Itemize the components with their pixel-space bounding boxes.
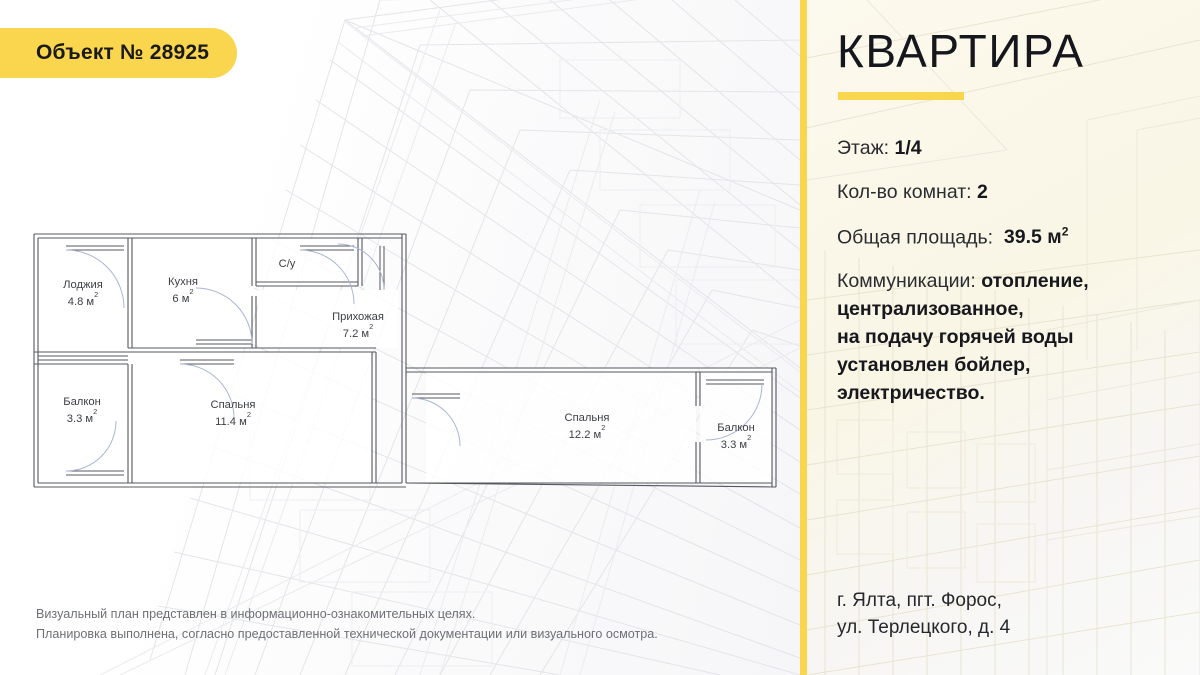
vertical-accent-divider — [800, 0, 807, 675]
spec-value-utilities-line-2: на подачу горячей воды — [837, 326, 1074, 348]
spec-value-total-area-number: 39.5 м — [1004, 226, 1062, 248]
address-block: г. Ялта, пгт. Форос, ул. Терлецкого, д. … — [837, 588, 1187, 642]
spec-value-rooms: 2 — [977, 181, 988, 203]
spec-value-floor: 1/4 — [894, 137, 921, 159]
room-label-bath: С/у — [279, 258, 296, 270]
page-title: КВАРТИРА — [837, 28, 1085, 74]
spec-row-rooms: Кол-во комнат: 2 — [837, 179, 1187, 205]
spec-value-total-area-sup: 2 — [1062, 225, 1069, 239]
plan-disclaimer: Визуальный план представлен в информацио… — [36, 605, 766, 644]
apartment-info-panel: КВАРТИРА Этаж: 1/4 Кол-во комнат: 2 Обща… — [807, 0, 1200, 675]
title-accent-bar — [838, 92, 964, 100]
address-line-2: ул. Терлецкого, д. 4 — [837, 615, 1187, 642]
spec-row-utilities: Коммуникации: отопление, централизованно… — [837, 268, 1187, 407]
spec-value-utilities-line-0: отопление, — [981, 270, 1088, 292]
apartment-info-content: КВАРТИРА Этаж: 1/4 Кол-во комнат: 2 Обща… — [837, 0, 1200, 675]
object-number-label: Объект № 28925 — [36, 41, 209, 65]
spec-label-floor: Этаж: — [837, 137, 889, 159]
floorplan-drawing: Лоджия 4.8 м2 Балкон 3.3 м2 Кухня 6 м2 С… — [28, 228, 788, 503]
spec-value-utilities-line-1: централизованное, — [837, 298, 1024, 320]
specification-list: Этаж: 1/4 Кол-во комнат: 2 Общая площадь… — [837, 135, 1187, 408]
disclaimer-line-2: Планировка выполнена, согласно предостав… — [36, 625, 766, 645]
address-line-1: г. Ялта, пгт. Форос, — [837, 588, 1187, 615]
spec-value-utilities-line-4: электричество. — [837, 382, 985, 404]
spec-label-total-area: Общая площадь: — [837, 226, 993, 248]
spec-label-utilities: Коммуникации: — [837, 270, 976, 292]
spec-row-total-area: Общая площадь: 39.5 м2 — [837, 224, 1187, 251]
object-number-badge: Объект № 28925 — [0, 28, 237, 78]
slide-root: Лоджия 4.8 м2 Балкон 3.3 м2 Кухня 6 м2 С… — [0, 0, 1200, 675]
spec-value-utilities-line-3: установлен бойлер, — [837, 354, 1030, 376]
spec-value-total-area: 39.5 м2 — [998, 226, 1068, 248]
room-label-hall: Прихожая — [332, 311, 384, 323]
spec-row-floor: Этаж: 1/4 — [837, 135, 1187, 161]
disclaimer-line-1: Визуальный план представлен в информацио… — [36, 605, 766, 625]
spec-label-rooms: Кол-во комнат: — [837, 181, 972, 203]
floorplan-panel: Лоджия 4.8 м2 Балкон 3.3 м2 Кухня 6 м2 С… — [0, 0, 800, 675]
